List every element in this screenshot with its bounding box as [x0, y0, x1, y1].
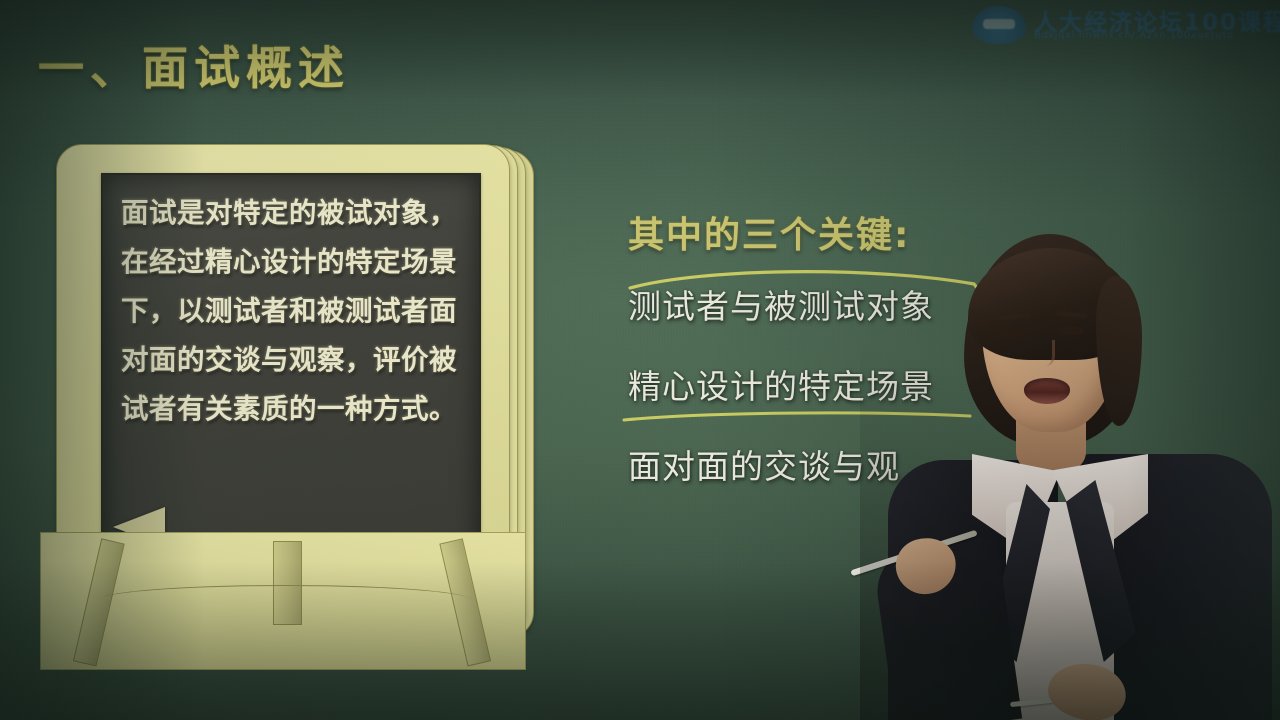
- lecture-video-frame: 一、面试概述 面试是对特定的被试对象，在经过精心设计的特定场景下，以测试者和被测…: [0, 0, 1280, 720]
- easel-crossbar: [99, 585, 471, 600]
- board-definition-text: 面试是对特定的被试对象，在经过精心设计的特定场景下，以测试者和被测试者面对面的交…: [121, 189, 469, 434]
- easel-leg-center: [273, 541, 302, 625]
- easel-stand: [40, 532, 526, 670]
- presenter-figure: [860, 232, 1280, 720]
- chalkboard-panel: 面试是对特定的被试对象，在经过精心设计的特定场景下，以测试者和被测试者面对面的交…: [101, 173, 481, 563]
- easel-leg-left: [73, 538, 125, 666]
- easel-flipchart: 面试是对特定的被试对象，在经过精心设计的特定场景下，以测试者和被测试者面对面的交…: [32, 140, 532, 668]
- easel-leg-right: [439, 538, 491, 666]
- slide-title: 一、面试概述: [38, 44, 350, 92]
- nose: [1036, 340, 1055, 366]
